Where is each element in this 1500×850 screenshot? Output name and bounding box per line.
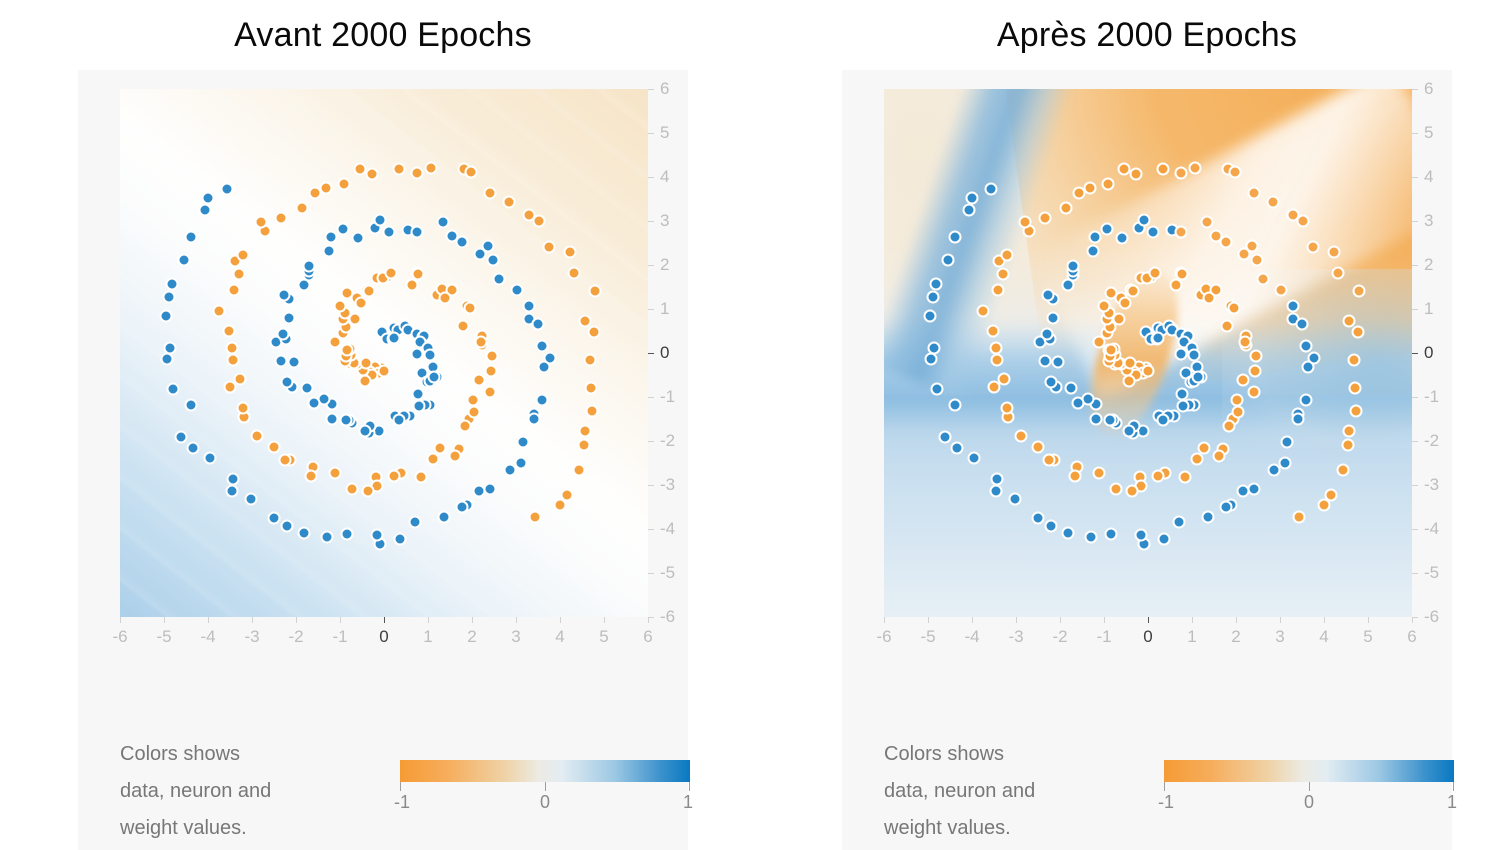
data-point-negative bbox=[528, 412, 541, 425]
data-point-positive bbox=[579, 425, 592, 438]
data-point-positive bbox=[529, 511, 542, 524]
data-point-negative bbox=[1257, 272, 1270, 285]
data-point-negative bbox=[1064, 382, 1077, 395]
data-point-negative bbox=[1052, 355, 1065, 368]
data-point-positive bbox=[1353, 284, 1366, 297]
data-point-positive bbox=[328, 335, 341, 348]
x-tick bbox=[1324, 617, 1325, 623]
data-point-negative bbox=[428, 371, 441, 384]
data-point-positive bbox=[1232, 406, 1245, 419]
data-point-negative bbox=[226, 473, 239, 486]
data-point-positive bbox=[353, 163, 366, 176]
x-tick bbox=[1280, 617, 1281, 623]
data-point-positive bbox=[1124, 357, 1137, 370]
data-point-positive bbox=[1191, 452, 1204, 465]
data-point-positive bbox=[563, 245, 576, 258]
x-axis-label: -4 bbox=[964, 627, 979, 647]
data-point-positive bbox=[1249, 364, 1262, 377]
data-point-negative bbox=[186, 441, 199, 454]
data-point-positive bbox=[237, 249, 250, 262]
data-point-negative bbox=[532, 317, 545, 330]
data-point-negative bbox=[1299, 393, 1312, 406]
data-point-negative bbox=[300, 382, 313, 395]
x-axis-label: -2 bbox=[288, 627, 303, 647]
y-tick bbox=[1412, 573, 1418, 574]
data-point-negative bbox=[924, 309, 937, 322]
x-tick bbox=[296, 617, 297, 623]
data-point-positive bbox=[360, 357, 373, 370]
data-point-negative bbox=[1009, 492, 1022, 505]
data-point-positive bbox=[976, 305, 989, 318]
data-point-positive bbox=[1175, 268, 1188, 281]
data-point-negative bbox=[504, 464, 517, 477]
data-point-negative bbox=[1177, 400, 1190, 413]
data-point-negative bbox=[511, 284, 524, 297]
data-point-positive bbox=[345, 482, 358, 495]
data-point-positive bbox=[341, 344, 354, 357]
x-axis-label: 2 bbox=[1231, 627, 1240, 647]
data-point-positive bbox=[1202, 292, 1215, 305]
x-axis-label: 4 bbox=[555, 627, 564, 647]
data-point-negative bbox=[927, 291, 940, 304]
data-point-negative bbox=[1122, 425, 1135, 438]
data-point-negative bbox=[455, 500, 468, 513]
data-point-negative bbox=[1192, 371, 1205, 384]
data-point-negative bbox=[1201, 511, 1214, 524]
data-point-negative bbox=[1100, 222, 1113, 235]
data-point-positive bbox=[295, 201, 308, 214]
x-axis-label: -5 bbox=[156, 627, 171, 647]
y-axis-label: -2 bbox=[1424, 431, 1439, 451]
data-point-negative bbox=[1062, 526, 1075, 539]
x-tick bbox=[884, 617, 885, 623]
data-point-positive bbox=[1018, 215, 1031, 228]
x-tick bbox=[340, 617, 341, 623]
colorbar-label-mid: 0 bbox=[540, 792, 550, 813]
data-point-positive bbox=[572, 463, 585, 476]
data-point-positive bbox=[584, 382, 597, 395]
data-point-negative bbox=[164, 342, 177, 355]
y-tick bbox=[1412, 397, 1418, 398]
data-point-positive bbox=[1266, 195, 1279, 208]
data-point-positive bbox=[1188, 161, 1201, 174]
data-point-positive bbox=[1221, 319, 1234, 332]
x-tick bbox=[1060, 617, 1061, 623]
data-point-negative bbox=[990, 473, 1003, 486]
data-point-positive bbox=[472, 374, 485, 387]
y-tick bbox=[1412, 89, 1418, 90]
colorbar-label-max: 1 bbox=[1447, 792, 1457, 813]
data-point-negative bbox=[1086, 245, 1099, 258]
data-point-negative bbox=[370, 528, 383, 541]
y-tick bbox=[1412, 485, 1418, 486]
data-point-positive bbox=[1331, 266, 1344, 279]
data-point-positive bbox=[485, 364, 498, 377]
data-point-positive bbox=[1092, 335, 1105, 348]
y-tick bbox=[1412, 133, 1418, 134]
data-point-negative bbox=[1173, 515, 1186, 528]
x-axis-label: -1 bbox=[1096, 627, 1111, 647]
x-tick bbox=[928, 617, 929, 623]
data-point-positive bbox=[411, 268, 424, 281]
y-axis-label: 6 bbox=[1424, 79, 1433, 99]
data-point-negative bbox=[1046, 312, 1059, 325]
y-axis-label: 5 bbox=[1424, 123, 1433, 143]
data-point-positive bbox=[424, 161, 437, 174]
data-point-positive bbox=[1105, 287, 1118, 300]
data-point-positive bbox=[359, 375, 372, 388]
legend-caption-before: Colors shows data, neuron and weight val… bbox=[120, 736, 330, 847]
legend-caption-line: Colors shows bbox=[120, 736, 330, 773]
data-point-positive bbox=[226, 353, 239, 366]
plot-area-before[interactable]: -6-5-4-3-2-101234566543210-1-2-3-4-5-6 bbox=[120, 89, 648, 617]
colorbar-label-mid: 0 bbox=[1304, 792, 1314, 813]
data-point-positive bbox=[427, 452, 440, 465]
data-point-positive bbox=[1084, 181, 1097, 194]
data-point-positive bbox=[457, 319, 470, 332]
data-point-negative bbox=[1156, 413, 1169, 426]
data-point-positive bbox=[393, 163, 406, 176]
data-point-positive bbox=[458, 420, 471, 433]
data-point-positive bbox=[589, 284, 602, 297]
data-point-negative bbox=[225, 484, 238, 497]
data-point-negative bbox=[455, 235, 468, 248]
y-axis-label: -1 bbox=[1424, 387, 1439, 407]
data-point-negative bbox=[1296, 317, 1309, 330]
y-axis-label: 1 bbox=[660, 299, 669, 319]
data-point-positive bbox=[1112, 312, 1125, 325]
colorbar-before bbox=[400, 760, 690, 782]
y-tick bbox=[648, 221, 654, 222]
panel-before: -6-5-4-3-2-101234566543210-1-2-3-4-5-6 C… bbox=[78, 70, 688, 850]
y-axis-label: -5 bbox=[1424, 563, 1439, 583]
data-point-negative bbox=[424, 348, 437, 361]
data-point-positive bbox=[1213, 450, 1226, 463]
data-point-negative bbox=[1066, 259, 1079, 272]
data-point-negative bbox=[989, 484, 1002, 497]
x-tick bbox=[1016, 617, 1017, 623]
legend-caption-line: data, neuron and bbox=[120, 773, 330, 810]
y-axis-label: 2 bbox=[660, 255, 669, 275]
x-tick bbox=[560, 617, 561, 623]
y-axis-label: 5 bbox=[660, 123, 669, 143]
data-point-negative bbox=[1138, 214, 1151, 227]
data-point-positive bbox=[1126, 285, 1139, 298]
data-point-negative bbox=[177, 254, 190, 267]
data-point-positive bbox=[278, 454, 291, 467]
colorbar-label-min: -1 bbox=[394, 792, 410, 813]
data-point-negative bbox=[950, 441, 963, 454]
y-tick bbox=[1412, 221, 1418, 222]
data-point-negative bbox=[413, 400, 426, 413]
x-axis-label: -5 bbox=[920, 627, 935, 647]
data-point-negative bbox=[394, 533, 407, 546]
legend-after: Colors shows data, neuron and weight val… bbox=[884, 730, 1424, 840]
data-point-negative bbox=[245, 492, 258, 505]
data-point-negative bbox=[939, 431, 952, 444]
data-point-positive bbox=[1117, 163, 1130, 176]
data-point-positive bbox=[584, 353, 597, 366]
data-point-negative bbox=[167, 383, 180, 396]
y-tick bbox=[648, 89, 654, 90]
data-point-positive bbox=[236, 401, 249, 414]
x-tick bbox=[208, 617, 209, 623]
data-point-negative bbox=[267, 512, 280, 525]
data-point-negative bbox=[985, 183, 998, 196]
data-point-negative bbox=[1245, 240, 1258, 253]
x-tick bbox=[384, 617, 385, 623]
data-point-negative bbox=[1045, 376, 1058, 389]
data-point-negative bbox=[517, 435, 530, 448]
data-point-negative bbox=[1287, 300, 1300, 313]
decision-surface-before[interactable] bbox=[120, 89, 648, 617]
data-point-positive bbox=[254, 215, 267, 228]
y-tick bbox=[648, 265, 654, 266]
data-point-positive bbox=[1000, 401, 1013, 414]
data-point-positive bbox=[1352, 325, 1365, 338]
data-point-negative bbox=[325, 231, 338, 244]
y-axis-label: 0 bbox=[1424, 343, 1433, 363]
y-tick bbox=[648, 441, 654, 442]
data-point-negative bbox=[175, 431, 188, 444]
data-point-positive bbox=[1109, 482, 1122, 495]
data-point-negative bbox=[536, 339, 549, 352]
data-point-negative bbox=[484, 483, 497, 496]
data-point-negative bbox=[1302, 360, 1315, 373]
y-tick bbox=[648, 617, 654, 618]
data-point-positive bbox=[483, 385, 496, 398]
data-point-positive bbox=[337, 177, 350, 190]
colorbar-tick bbox=[400, 782, 401, 791]
plot-area-after[interactable]: -6-5-4-3-2-101234566543210-1-2-3-4-5-6 bbox=[884, 89, 1412, 617]
x-axis-label: 0 bbox=[379, 627, 388, 647]
x-axis-label: -2 bbox=[1052, 627, 1067, 647]
data-point-negative bbox=[383, 226, 396, 239]
y-axis-label: -3 bbox=[660, 475, 675, 495]
data-point-negative bbox=[948, 231, 961, 244]
y-axis-label: -4 bbox=[1424, 519, 1439, 539]
data-point-positive bbox=[1247, 187, 1260, 200]
x-tick bbox=[1148, 617, 1149, 623]
data-point-positive bbox=[1069, 469, 1082, 482]
x-axis-label: 3 bbox=[511, 627, 520, 647]
data-point-positive bbox=[411, 166, 424, 179]
data-point-negative bbox=[1045, 520, 1058, 533]
y-axis-label: 4 bbox=[660, 167, 669, 187]
data-point-positive bbox=[468, 406, 481, 419]
data-point-positive bbox=[1151, 470, 1164, 483]
data-point-negative bbox=[1041, 288, 1054, 301]
data-point-positive bbox=[226, 342, 239, 355]
data-point-negative bbox=[481, 240, 494, 253]
data-point-positive bbox=[586, 405, 599, 418]
data-point-negative bbox=[1292, 412, 1305, 425]
y-tick bbox=[648, 485, 654, 486]
y-tick bbox=[648, 529, 654, 530]
x-tick bbox=[516, 617, 517, 623]
data-point-positive bbox=[553, 498, 566, 511]
data-point-positive bbox=[483, 187, 496, 200]
legend-caption-line: weight values. bbox=[120, 810, 330, 847]
data-point-positive bbox=[1293, 511, 1306, 524]
data-point-negative bbox=[967, 451, 980, 464]
data-point-positive bbox=[1350, 405, 1363, 418]
data-point-negative bbox=[160, 309, 173, 322]
data-point-negative bbox=[1281, 435, 1294, 448]
data-point-positive bbox=[997, 267, 1010, 280]
data-point-negative bbox=[535, 393, 548, 406]
data-point-positive bbox=[1222, 420, 1235, 433]
colorbar-tick bbox=[545, 782, 546, 791]
colorbar-label-max: 1 bbox=[683, 792, 693, 813]
data-point-positive bbox=[1059, 201, 1072, 214]
data-point-negative bbox=[392, 413, 405, 426]
data-point-negative bbox=[351, 231, 364, 244]
y-tick bbox=[648, 397, 654, 398]
data-point-negative bbox=[1201, 216, 1214, 229]
data-point-positive bbox=[1093, 467, 1106, 480]
y-axis-label: 0 bbox=[660, 343, 669, 363]
data-point-negative bbox=[1040, 328, 1053, 341]
data-point-positive bbox=[1123, 375, 1136, 388]
data-point-negative bbox=[1251, 254, 1264, 267]
y-tick bbox=[648, 309, 654, 310]
data-point-negative bbox=[281, 376, 294, 389]
panel-title-before: Avant 2000 Epochs bbox=[78, 0, 688, 70]
decision-surface-after[interactable] bbox=[884, 89, 1412, 617]
data-point-negative bbox=[1236, 484, 1249, 497]
data-point-positive bbox=[341, 287, 354, 300]
data-point-positive bbox=[1097, 300, 1110, 313]
x-axis-label: 5 bbox=[1363, 627, 1372, 647]
data-point-negative bbox=[1071, 396, 1084, 409]
x-axis-label: -1 bbox=[332, 627, 347, 647]
data-point-positive bbox=[990, 353, 1003, 366]
data-point-negative bbox=[1147, 226, 1160, 239]
data-point-negative bbox=[387, 331, 400, 344]
legend-caption-line: data, neuron and bbox=[884, 773, 1094, 810]
y-axis-label: 3 bbox=[660, 211, 669, 231]
data-point-positive bbox=[1296, 215, 1309, 228]
y-axis-label: 1 bbox=[1424, 299, 1433, 319]
data-point-negative bbox=[1219, 235, 1232, 248]
data-point-negative bbox=[1174, 225, 1187, 238]
data-point-negative bbox=[163, 291, 176, 304]
x-tick bbox=[604, 617, 605, 623]
data-point-positive bbox=[329, 467, 342, 480]
x-axis-label: 1 bbox=[423, 627, 432, 647]
data-point-negative bbox=[184, 398, 197, 411]
data-point-positive bbox=[1015, 430, 1028, 443]
data-point-negative bbox=[1188, 348, 1201, 361]
data-point-negative bbox=[1031, 512, 1044, 525]
colorbar-label-min: -1 bbox=[1158, 792, 1174, 813]
legend-caption-line: Colors shows bbox=[884, 736, 1094, 773]
data-point-negative bbox=[198, 204, 211, 217]
data-point-negative bbox=[966, 191, 979, 204]
y-tick bbox=[1412, 309, 1418, 310]
colorbar-tick bbox=[1309, 782, 1310, 791]
data-point-positive bbox=[1307, 241, 1320, 254]
x-tick bbox=[120, 617, 121, 623]
x-tick bbox=[472, 617, 473, 623]
page-root: Avant 2000 Epochs -6-5-4-3-2-10123456654… bbox=[0, 0, 1500, 850]
data-point-negative bbox=[1105, 528, 1118, 541]
data-point-negative bbox=[160, 353, 173, 366]
data-point-positive bbox=[1247, 385, 1260, 398]
x-axis-label: -3 bbox=[244, 627, 259, 647]
data-point-positive bbox=[1343, 425, 1356, 438]
data-point-positive bbox=[212, 305, 225, 318]
data-point-positive bbox=[1001, 249, 1014, 262]
y-axis-label: -1 bbox=[660, 387, 675, 407]
data-point-positive bbox=[1227, 301, 1240, 314]
data-point-negative bbox=[1089, 231, 1102, 244]
data-point-positive bbox=[1236, 374, 1249, 387]
data-point-positive bbox=[502, 195, 515, 208]
data-point-positive bbox=[543, 241, 556, 254]
y-tick bbox=[648, 133, 654, 134]
data-point-positive bbox=[385, 266, 398, 279]
data-point-negative bbox=[941, 254, 954, 267]
data-point-positive bbox=[223, 325, 236, 338]
data-point-negative bbox=[487, 254, 500, 267]
data-point-negative bbox=[538, 360, 551, 373]
data-point-negative bbox=[1089, 413, 1102, 426]
y-tick bbox=[1412, 177, 1418, 178]
data-point-positive bbox=[378, 364, 391, 377]
data-point-negative bbox=[924, 353, 937, 366]
x-axis-label: -6 bbox=[876, 627, 891, 647]
data-point-positive bbox=[1327, 245, 1340, 258]
data-point-positive bbox=[366, 167, 379, 180]
data-point-negative bbox=[321, 530, 334, 543]
data-point-positive bbox=[361, 484, 374, 497]
data-point-negative bbox=[325, 413, 338, 426]
x-tick bbox=[252, 617, 253, 623]
data-point-positive bbox=[387, 470, 400, 483]
data-point-positive bbox=[268, 441, 281, 454]
data-point-negative bbox=[472, 484, 485, 497]
data-point-positive bbox=[588, 325, 601, 338]
data-point-negative bbox=[298, 526, 311, 539]
y-tick bbox=[1412, 353, 1418, 354]
data-point-negative bbox=[493, 272, 506, 285]
data-point-positive bbox=[355, 296, 368, 309]
data-point-positive bbox=[233, 267, 246, 280]
data-point-negative bbox=[1219, 500, 1232, 513]
scatter-points-before bbox=[120, 89, 648, 617]
legend-caption-after: Colors shows data, neuron and weight val… bbox=[884, 736, 1094, 847]
colorbar-tick bbox=[689, 782, 690, 791]
data-point-positive bbox=[362, 285, 375, 298]
scatter-points-after bbox=[884, 89, 1412, 617]
data-point-negative bbox=[336, 222, 349, 235]
y-axis-label: -5 bbox=[660, 563, 675, 583]
y-axis-label: -6 bbox=[660, 607, 675, 627]
x-tick bbox=[1192, 617, 1193, 623]
data-point-positive bbox=[1032, 441, 1045, 454]
data-point-positive bbox=[333, 300, 346, 313]
y-tick bbox=[1412, 529, 1418, 530]
data-point-positive bbox=[1336, 463, 1349, 476]
data-point-positive bbox=[234, 373, 247, 386]
x-axis-label: 3 bbox=[1275, 627, 1284, 647]
data-point-positive bbox=[463, 301, 476, 314]
data-point-positive bbox=[1105, 344, 1118, 357]
data-point-negative bbox=[1268, 464, 1281, 477]
data-point-negative bbox=[437, 511, 450, 524]
